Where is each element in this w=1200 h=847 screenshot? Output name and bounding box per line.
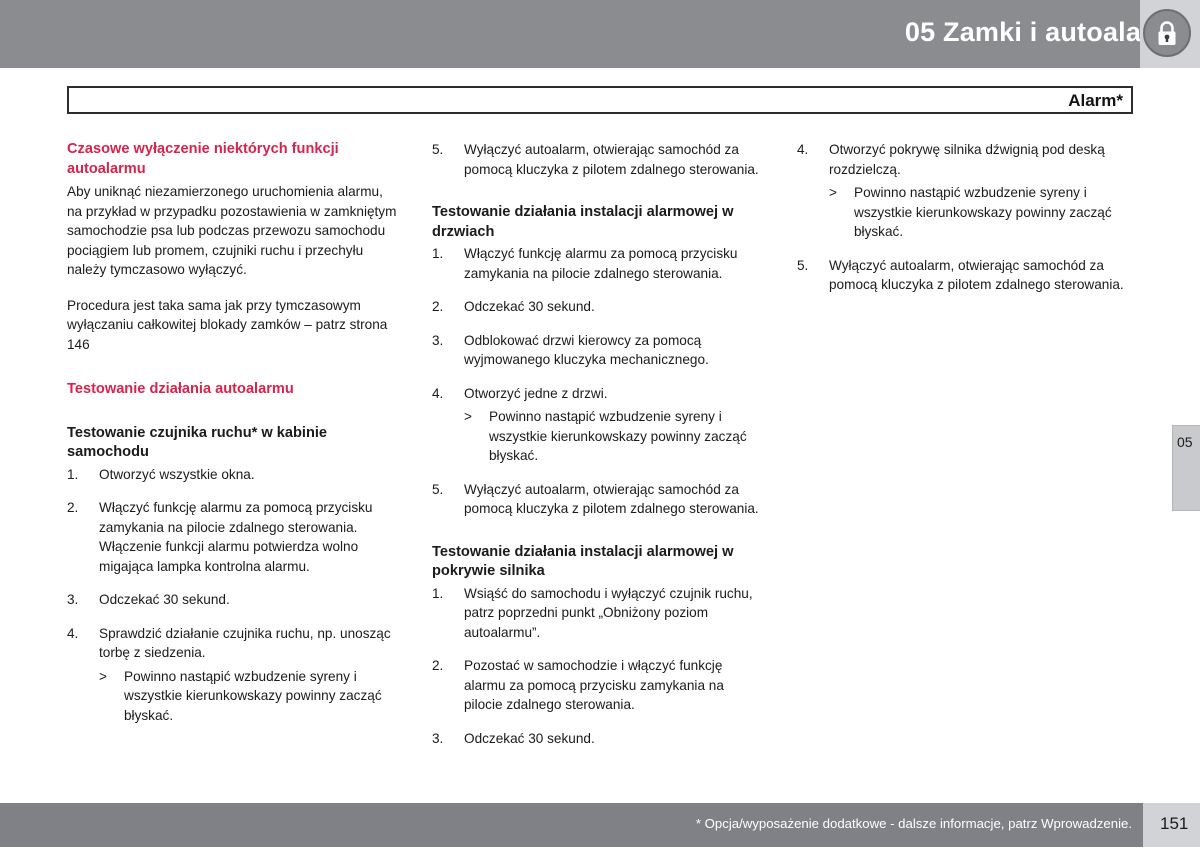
list-item-number: 1. <box>432 244 456 264</box>
paragraph-same-procedure: Procedura jest taka sama jak przy tymcza… <box>67 296 397 355</box>
list-item-number: 4. <box>432 384 456 404</box>
list-item-number: 3. <box>432 729 456 749</box>
list-item: 3. Odczekać 30 sekund. <box>432 729 762 749</box>
list-item-result: > Powinno nastąpić wzbudzenie syreny i w… <box>829 183 1127 242</box>
content-column-2: 5. Wyłączyć autoalarm, otwierając samoch… <box>432 140 762 790</box>
list-item-text: Włączyć funkcję alarmu za pomocą przycis… <box>99 498 397 576</box>
paragraph-avoid-unintended-alarm: Aby uniknąć niezamierzonego uruchomienia… <box>67 182 397 280</box>
list-item-text: Otworzyć pokrywę silnika dźwignią pod de… <box>829 140 1127 179</box>
list-item-text: Wyłączyć autoalarm, otwierając samochód … <box>829 256 1127 295</box>
list-item-number: 5. <box>797 256 821 276</box>
section-title-label: Alarm* <box>1068 91 1123 111</box>
page-content: Czasowe wyłączenie niektórych funkcji au… <box>67 140 1135 790</box>
list-item: 4. Otworzyć jedne z drzwi. > Powinno nas… <box>432 384 762 466</box>
list-item-number: 2. <box>432 297 456 317</box>
list-item: 5. Wyłączyć autoalarm, otwierając samoch… <box>797 256 1127 295</box>
list-item-text: Odczekać 30 sekund. <box>464 729 762 749</box>
list-item-number: 3. <box>67 590 91 610</box>
list-item-number: 1. <box>432 584 456 604</box>
list-item-text: Odczekać 30 sekund. <box>99 590 397 610</box>
list-item-number: 5. <box>432 140 456 160</box>
chapter-tab-label: 05 <box>1177 434 1193 450</box>
list-item-text: Otworzyć jedne z drzwi. <box>464 384 762 404</box>
heading-testing-door-alarm: Testowanie działania instalacji alarmowe… <box>432 203 762 242</box>
heading-testing-hood-alarm: Testowanie działania instalacji alarmowe… <box>432 543 762 582</box>
result-arrow-icon: > <box>829 183 837 203</box>
result-text: Powinno nastąpić wzbudzenie syreny i wsz… <box>854 185 1112 239</box>
list-item-text: Otworzyć wszystkie okna. <box>99 465 397 485</box>
list-item-number: 1. <box>67 465 91 485</box>
heading-testing-autoalarm: Testowanie działania autoalarmu <box>67 380 397 400</box>
list-item-number: 2. <box>67 498 91 518</box>
page-number: 151 <box>1160 814 1188 834</box>
list-item-text: Sprawdzić działanie czujnika ruchu, np. … <box>99 624 397 663</box>
list-item-text: Wyłączyć autoalarm, otwierając samochód … <box>464 140 762 179</box>
list-item: 2. Pozostać w samochodzie i włączyć funk… <box>432 656 762 715</box>
list-item-number: 3. <box>432 331 456 351</box>
content-column-1: Czasowe wyłączenie niektórych funkcji au… <box>67 140 397 790</box>
list-item-text: Odblokować drzwi kierowcy za pomocą wyjm… <box>464 331 762 370</box>
heading-testing-motion-sensor: Testowanie czujnika ruchu* w kabinie sam… <box>67 424 397 463</box>
list-item: 5. Wyłączyć autoalarm, otwierając samoch… <box>432 480 762 519</box>
list-item: 1. Wsiąść do samochodu i wyłączyć czujni… <box>432 584 762 643</box>
list-item-result: > Powinno nastąpić wzbudzenie syreny i w… <box>99 667 397 726</box>
list-item: 5. Wyłączyć autoalarm, otwierając samoch… <box>432 140 762 179</box>
chapter-tab-05[interactable]: 05 <box>1172 425 1200 511</box>
list-item-text: Pozostać w samochodzie i włączyć funkcję… <box>464 656 762 715</box>
list-item: 2. Włączyć funkcję alarmu za pomocą przy… <box>67 498 397 576</box>
list-item: 4. Otworzyć pokrywę silnika dźwignią pod… <box>797 140 1127 242</box>
list-item: 1. Włączyć funkcję alarmu za pomocą przy… <box>432 244 762 283</box>
list-item-number: 4. <box>67 624 91 644</box>
list-item: 3. Odczekać 30 sekund. <box>67 590 397 610</box>
list-item: 4. Sprawdzić działanie czujnika ruchu, n… <box>67 624 397 726</box>
footnote: * Opcja/wyposażenie dodatkowe - dalsze i… <box>0 816 1132 831</box>
result-arrow-icon: > <box>99 667 107 687</box>
list-item-number: 4. <box>797 140 821 160</box>
result-text: Powinno nastąpić wzbudzenie syreny i wsz… <box>489 409 747 463</box>
result-arrow-icon: > <box>464 407 472 427</box>
list-item-text: Wsiąść do samochodu i wyłączyć czujnik r… <box>464 584 762 643</box>
list-item-text: Wyłączyć autoalarm, otwierając samochód … <box>464 480 762 519</box>
content-column-3: 4. Otworzyć pokrywę silnika dźwignią pod… <box>797 140 1127 790</box>
heading-temporary-disable: Czasowe wyłączenie niektórych funkcji au… <box>67 140 397 179</box>
list-item: 2. Odczekać 30 sekund. <box>432 297 762 317</box>
list-item-number: 5. <box>432 480 456 500</box>
page-title: 05 Zamki i autoalarm <box>905 17 1176 48</box>
section-title-box: Alarm* <box>67 86 1133 114</box>
list-item-number: 2. <box>432 656 456 676</box>
result-text: Powinno nastąpić wzbudzenie syreny i wsz… <box>124 669 382 723</box>
list-item-text: Odczekać 30 sekund. <box>464 297 762 317</box>
padlock-icon <box>1143 9 1191 57</box>
list-item: 3. Odblokować drzwi kierowcy za pomocą w… <box>432 331 762 370</box>
list-item-text: Włączyć funkcję alarmu za pomocą przycis… <box>464 244 762 283</box>
list-item: 1. Otworzyć wszystkie okna. <box>67 465 397 485</box>
list-item-result: > Powinno nastąpić wzbudzenie syreny i w… <box>464 407 762 466</box>
